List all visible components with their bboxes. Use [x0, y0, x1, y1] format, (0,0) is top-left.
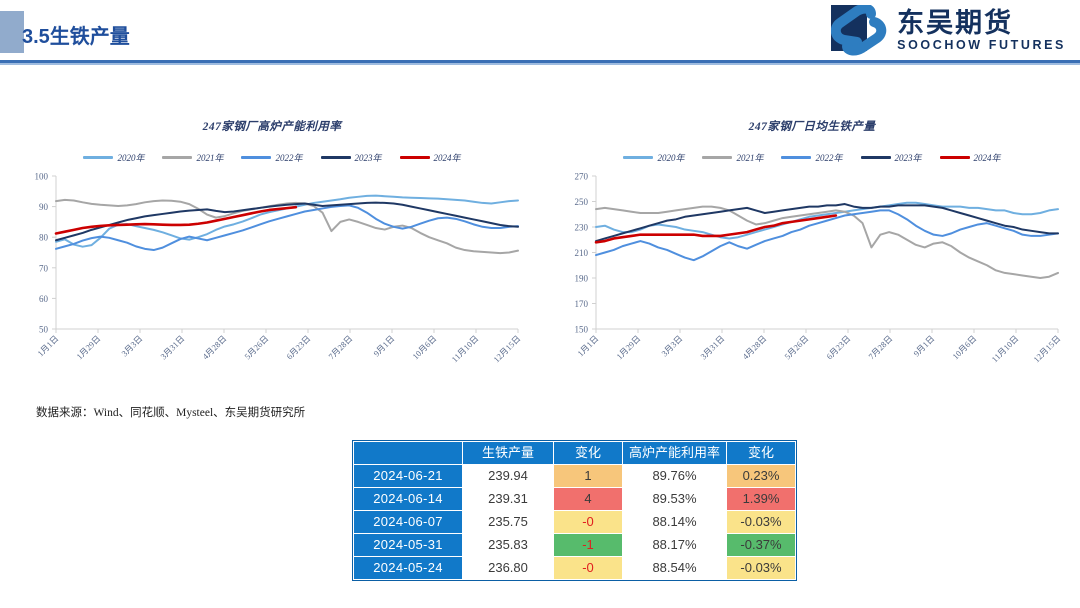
legend-label: 2020年 [117, 151, 144, 164]
legend-swatch-icon [781, 156, 811, 159]
x-tick-label: 4月28日 [740, 333, 768, 361]
table-cell-utilization: 88.54% [623, 557, 727, 580]
table-cell-output-change: -0 [554, 511, 623, 534]
table-cell-utilization: 89.53% [623, 488, 727, 511]
legend-item-2021年[interactable]: 2021年 [702, 151, 763, 164]
table-cell-utilization-change: -0.03% [727, 511, 796, 534]
table-row[interactable]: 2024-05-24236.80-088.54%-0.03% [354, 557, 796, 580]
x-tick-label: 1月1日 [575, 333, 600, 358]
legend-swatch-icon [940, 156, 970, 159]
legend-swatch-icon [400, 156, 430, 159]
chart-daily-average-pig-iron-output: 247家钢厂日均生铁产量 2020年2021年2022年2023年2024年 1… [552, 118, 1072, 393]
table-cell-output-change: 4 [554, 488, 623, 511]
chart-title: 247家钢厂高炉产能利用率 [12, 118, 532, 136]
x-tick-label: 11月10日 [990, 333, 1021, 364]
legend-item-2022年[interactable]: 2022年 [241, 151, 302, 164]
legend-swatch-icon [623, 156, 653, 159]
chart-svg: 50607080901001月1日1月29日3月3日3月31日4月28日5月26… [12, 168, 532, 383]
table-cell-date: 2024-06-21 [354, 465, 463, 488]
legend-label: 2022年 [815, 151, 842, 164]
table-cell-date: 2024-06-14 [354, 488, 463, 511]
table-header-row: 生铁产量 变化 高炉产能利用率 变化 [354, 442, 796, 465]
legend-item-2020年[interactable]: 2020年 [83, 151, 144, 164]
chart-plot-area: 1501701902102302502701月1日1月29日3月3日3月31日4… [552, 168, 1072, 383]
legend-label: 2023年 [895, 151, 922, 164]
table-row[interactable]: 2024-06-07235.75-088.14%-0.03% [354, 511, 796, 534]
slide-header: 3.5生铁产量 东吴期货 SOOCHOW FUTURES [0, 0, 1080, 70]
table-row[interactable]: 2024-06-21239.94189.76%0.23% [354, 465, 796, 488]
legend-item-2024年[interactable]: 2024年 [400, 151, 461, 164]
table-cell-output: 239.94 [463, 465, 554, 488]
table-cell-output: 235.75 [463, 511, 554, 534]
source-note: 数据来源：Wind、同花顺、Mysteel、东吴期货研究所 [36, 404, 305, 420]
table-header: 生铁产量 变化 高炉产能利用率 变化 [354, 442, 796, 465]
table-cell-output-change: 1 [554, 465, 623, 488]
y-tick-label: 70 [39, 263, 49, 273]
x-tick-label: 4月28日 [200, 333, 228, 361]
x-tick-label: 3月31日 [158, 333, 186, 361]
y-tick-label: 60 [39, 294, 49, 304]
y-tick-label: 250 [575, 197, 589, 207]
summary-table-container: 生铁产量 变化 高炉产能利用率 变化 2024-06-21239.94189.7… [352, 440, 797, 581]
chart-blast-furnace-capacity-utilization: 247家钢厂高炉产能利用率 2020年2021年2022年2023年2024年 … [12, 118, 532, 393]
company-logo: 东吴期货 SOOCHOW FUTURES [831, 5, 1066, 57]
page-title: 3.5生铁产量 [22, 20, 130, 49]
y-tick-label: 190 [575, 274, 589, 284]
table-cell-date: 2024-05-31 [354, 534, 463, 557]
legend-label: 2024年 [974, 151, 1001, 164]
legend-item-2022年[interactable]: 2022年 [781, 151, 842, 164]
table-row[interactable]: 2024-06-14239.31489.53%1.39% [354, 488, 796, 511]
y-tick-label: 150 [575, 325, 589, 335]
legend-label: 2024年 [434, 151, 461, 164]
table-cell-output-change: -1 [554, 534, 623, 557]
x-tick-label: 1月1日 [35, 333, 60, 358]
header-divider-line-secondary [0, 63, 1080, 65]
x-tick-label: 5月26日 [782, 333, 810, 361]
table-header-utilization: 高炉产能利用率 [623, 442, 727, 465]
x-tick-label: 12月15日 [491, 333, 522, 364]
x-tick-label: 9月1日 [911, 333, 936, 358]
legend-label: 2020年 [657, 151, 684, 164]
x-tick-label: 12月15日 [1031, 333, 1062, 364]
legend-item-2023年[interactable]: 2023年 [861, 151, 922, 164]
table-row[interactable]: 2024-05-31235.83-188.17%-0.37% [354, 534, 796, 557]
summary-table: 生铁产量 变化 高炉产能利用率 变化 2024-06-21239.94189.7… [353, 441, 796, 580]
y-tick-label: 270 [575, 172, 589, 182]
legend-item-2024年[interactable]: 2024年 [940, 151, 1001, 164]
legend-item-2020年[interactable]: 2020年 [623, 151, 684, 164]
x-tick-label: 7月28日 [326, 333, 354, 361]
legend-label: 2022年 [275, 151, 302, 164]
table-cell-output: 236.80 [463, 557, 554, 580]
chart-svg: 1501701902102302502701月1日1月29日3月3日3月31日4… [552, 168, 1072, 383]
table-body: 2024-06-21239.94189.76%0.23%2024-06-1423… [354, 465, 796, 580]
x-tick-label: 3月3日 [659, 333, 684, 358]
x-tick-label: 1月29日 [614, 333, 642, 361]
legend-label: 2021年 [196, 151, 223, 164]
table-cell-utilization: 89.76% [623, 465, 727, 488]
table-header-utilization-change: 变化 [727, 442, 796, 465]
table-cell-output: 239.31 [463, 488, 554, 511]
table-cell-date: 2024-06-07 [354, 511, 463, 534]
table-cell-utilization-change: -0.37% [727, 534, 796, 557]
legend-swatch-icon [861, 156, 891, 159]
y-tick-label: 50 [39, 325, 49, 335]
y-tick-label: 90 [39, 202, 49, 212]
y-tick-label: 100 [35, 172, 49, 182]
legend-swatch-icon [321, 156, 351, 159]
logo-text: 东吴期货 SOOCHOW FUTURES [897, 9, 1066, 53]
legend-label: 2021年 [736, 151, 763, 164]
soochow-futures-logo-mark-icon [831, 5, 887, 57]
y-tick-label: 230 [575, 223, 589, 233]
table-cell-utilization-change: 0.23% [727, 465, 796, 488]
x-tick-label: 11月10日 [450, 333, 481, 364]
chart-legend: 2020年2021年2022年2023年2024年 [552, 146, 1072, 168]
chart-plot-area: 50607080901001月1日1月29日3月3日3月31日4月28日5月26… [12, 168, 532, 383]
legend-label: 2023年 [355, 151, 382, 164]
table-cell-utilization: 88.17% [623, 534, 727, 557]
y-tick-label: 170 [575, 299, 589, 309]
y-tick-label: 80 [39, 233, 49, 243]
legend-swatch-icon [241, 156, 271, 159]
x-tick-label: 6月23日 [284, 333, 312, 361]
table-header-date [354, 442, 463, 465]
x-tick-label: 3月31日 [698, 333, 726, 361]
y-tick-label: 210 [575, 248, 589, 258]
chart-legend: 2020年2021年2022年2023年2024年 [12, 146, 532, 168]
table-header-output: 生铁产量 [463, 442, 554, 465]
x-tick-label: 6月23日 [824, 333, 852, 361]
table-cell-date: 2024-05-24 [354, 557, 463, 580]
legend-swatch-icon [83, 156, 113, 159]
x-tick-label: 9月1日 [371, 333, 396, 358]
table-cell-utilization: 88.14% [623, 511, 727, 534]
legend-item-2023年[interactable]: 2023年 [321, 151, 382, 164]
x-tick-label: 1月29日 [74, 333, 102, 361]
x-tick-label: 5月26日 [242, 333, 270, 361]
table-cell-utilization-change: -0.03% [727, 557, 796, 580]
chart-title: 247家钢厂日均生铁产量 [552, 118, 1072, 136]
table-header-output-change: 变化 [554, 442, 623, 465]
x-tick-label: 3月3日 [119, 333, 144, 358]
table-cell-utilization-change: 1.39% [727, 488, 796, 511]
legend-swatch-icon [162, 156, 192, 159]
x-tick-label: 10月6日 [950, 333, 978, 361]
x-tick-label: 10月6日 [410, 333, 438, 361]
table-cell-output: 235.83 [463, 534, 554, 557]
logo-company-name-cn: 东吴期货 [897, 9, 1013, 37]
logo-company-name-en: SOOCHOW FUTURES [897, 38, 1066, 53]
legend-swatch-icon [702, 156, 732, 159]
legend-item-2021年[interactable]: 2021年 [162, 151, 223, 164]
header-accent-box [0, 11, 24, 53]
x-tick-label: 7月28日 [866, 333, 894, 361]
table-cell-output-change: -0 [554, 557, 623, 580]
